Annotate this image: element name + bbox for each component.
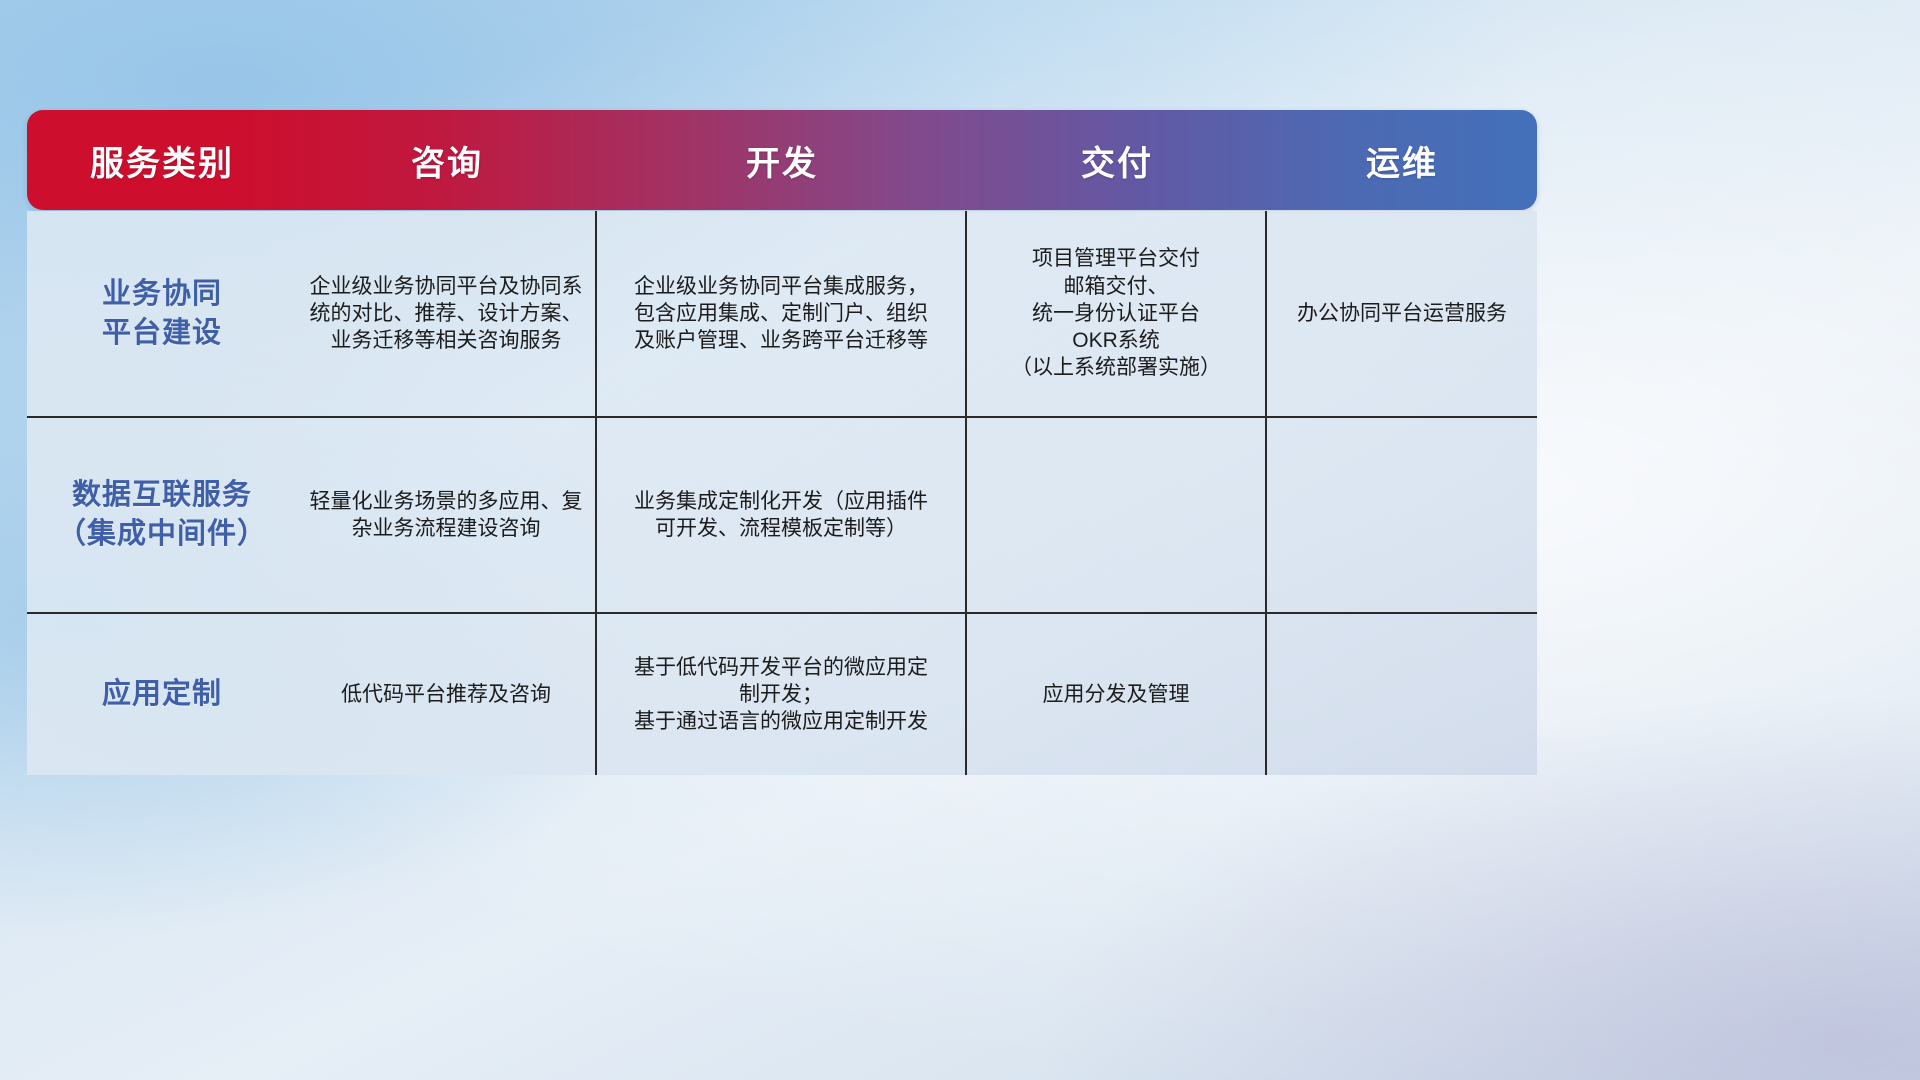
- cell-delivery: 项目管理平台交付 邮箱交付、 统一身份认证平台 OKR系统 （以上系统部署实施）: [967, 211, 1267, 416]
- cell-development: 业务集成定制化开发（应用插件 可开发、流程模板定制等）: [597, 418, 967, 612]
- header-service-category: 服务类别: [27, 136, 297, 185]
- cell-delivery: 应用分发及管理: [967, 614, 1267, 775]
- cell-development: 基于低代码开发平台的微应用定 制开发； 基于通过语言的微应用定制开发: [597, 614, 967, 775]
- header-delivery: 交付: [967, 136, 1267, 185]
- table-row: 数据互联服务 （集成中间件） 轻量化业务场景的多应用、复 杂业务流程建设咨询 业…: [27, 416, 1537, 612]
- row-label: 业务协同 平台建设: [27, 211, 297, 416]
- service-matrix: 服务类别 咨询 开发 交付 运维 业务协同 平台建设 企业级业务协同平台及协同系…: [0, 0, 1920, 1080]
- header-development: 开发: [597, 136, 967, 185]
- row-label: 数据互联服务 （集成中间件）: [27, 418, 297, 612]
- cell-operations: [1267, 614, 1537, 775]
- cell-operations: 办公协同平台运营服务: [1267, 211, 1537, 416]
- cell-consulting: 低代码平台推荐及咨询: [297, 614, 597, 775]
- cell-consulting: 企业级业务协同平台及协同系 统的对比、推荐、设计方案、 业务迁移等相关咨询服务: [297, 211, 597, 416]
- cell-consulting: 轻量化业务场景的多应用、复 杂业务流程建设咨询: [297, 418, 597, 612]
- cell-delivery: [967, 418, 1267, 612]
- table-row: 业务协同 平台建设 企业级业务协同平台及协同系 统的对比、推荐、设计方案、 业务…: [27, 211, 1537, 416]
- table-header-bar: 服务类别 咨询 开发 交付 运维: [27, 110, 1537, 210]
- table-row: 应用定制 低代码平台推荐及咨询 基于低代码开发平台的微应用定 制开发； 基于通过…: [27, 612, 1537, 775]
- header-operations: 运维: [1267, 136, 1537, 185]
- header-consulting: 咨询: [297, 136, 597, 185]
- cell-operations: [1267, 418, 1537, 612]
- table-body: 业务协同 平台建设 企业级业务协同平台及协同系 统的对比、推荐、设计方案、 业务…: [27, 211, 1537, 775]
- cell-development: 企业级业务协同平台集成服务， 包含应用集成、定制门户、组织 及账户管理、业务跨平…: [597, 211, 967, 416]
- row-label: 应用定制: [27, 614, 297, 775]
